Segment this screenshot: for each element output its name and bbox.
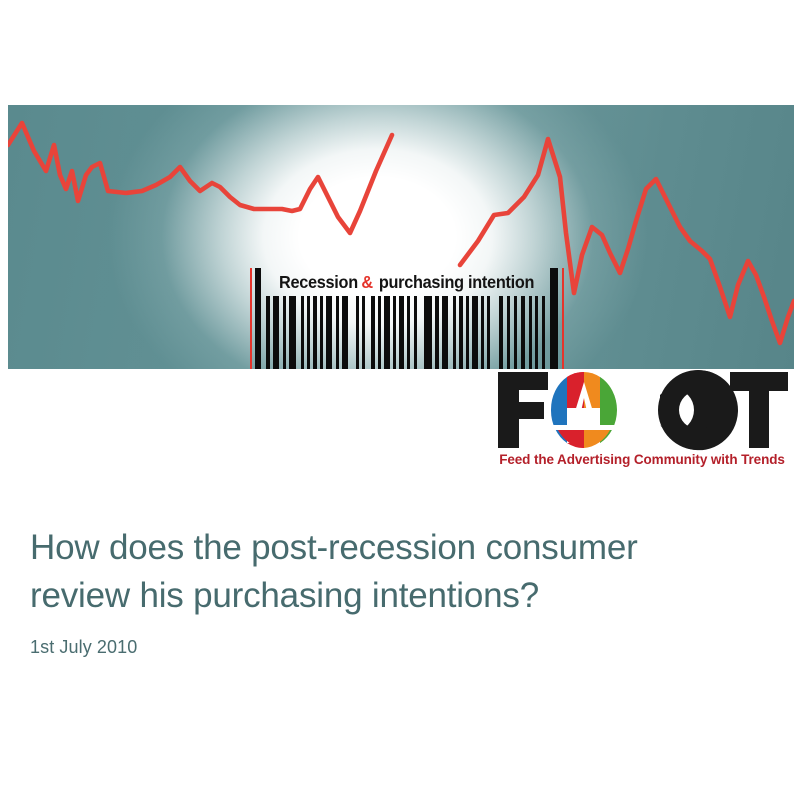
page-title-line-1: How does the post-recession consumer — [30, 524, 760, 572]
barcode-bar — [326, 296, 332, 369]
trend-line-left — [8, 123, 392, 233]
barcode-bar — [424, 296, 432, 369]
fact-wordmark-graphic — [492, 368, 792, 452]
barcode-graphic: Recession & purchasing intention — [248, 268, 568, 369]
barcode-bar — [393, 296, 396, 369]
barcode-bar — [266, 296, 270, 369]
barcode-bar — [336, 296, 339, 369]
hero-banner: Recession & purchasing intention — [8, 105, 794, 369]
barcode-bar — [301, 296, 304, 369]
barcode-bar — [273, 296, 279, 369]
logo-letter-t — [730, 372, 788, 448]
barcode-bar — [499, 296, 503, 369]
barcode-bar — [472, 296, 478, 369]
barcode-bar — [378, 296, 381, 369]
fact-tagline: Feed the Advertising Community with Tren… — [492, 452, 792, 467]
barcode-bar — [507, 296, 510, 369]
barcode-bar — [442, 296, 448, 369]
logo-letter-a-mark — [551, 372, 618, 448]
barcode-bar — [521, 296, 525, 369]
logo-wedge-bottom-red-2 — [558, 430, 584, 448]
barcode-bar — [529, 296, 532, 369]
barcode-headline: Recession & purchasing intention — [262, 268, 554, 296]
title-block: How does the post-recession consumer rev… — [30, 524, 760, 658]
barcode-bar — [514, 296, 517, 369]
barcode-bar — [289, 296, 296, 369]
barcode-headline-suffix: purchasing intention — [379, 272, 534, 293]
barcode-bar — [550, 268, 558, 369]
barcode-bar — [481, 296, 484, 369]
barcode-bars — [248, 296, 568, 369]
barcode-bar — [535, 296, 538, 369]
barcode-bar — [399, 296, 404, 369]
barcode-guard-left — [250, 268, 252, 369]
barcode-bar — [255, 268, 261, 369]
barcode-headline-ampersand: & — [361, 272, 372, 293]
barcode-bar — [459, 296, 463, 369]
barcode-bar — [542, 296, 545, 369]
barcode-bar — [466, 296, 469, 369]
barcode-bar — [453, 296, 456, 369]
logo-wedge-bottom-orange — [584, 430, 610, 448]
barcode-bar — [487, 296, 490, 369]
page-title: How does the post-recession consumer rev… — [30, 524, 760, 621]
barcode-bar — [362, 296, 365, 369]
barcode-bar — [384, 296, 390, 369]
barcode-bar — [283, 296, 286, 369]
fact-logo: Feed the Advertising Community with Tren… — [492, 368, 792, 478]
barcode-bar — [342, 296, 348, 369]
barcode-bar — [320, 296, 323, 369]
barcode-bar — [435, 296, 439, 369]
barcode-bar — [371, 296, 375, 369]
title-slide: Recession & purchasing intention — [0, 0, 800, 800]
barcode-headline-prefix: Recession — [279, 272, 358, 293]
barcode-bar — [407, 296, 410, 369]
barcode-bar — [313, 296, 317, 369]
barcode-bar — [356, 296, 359, 369]
page-title-line-2: review his purchasing intentions? — [30, 572, 760, 620]
logo-letter-f — [498, 372, 548, 448]
barcode-bar — [414, 296, 417, 369]
barcode-bar — [307, 296, 310, 369]
barcode-guard-right — [562, 268, 564, 369]
logo-letter-a-band — [552, 425, 618, 430]
slide-date: 1st July 2010 — [30, 637, 760, 658]
